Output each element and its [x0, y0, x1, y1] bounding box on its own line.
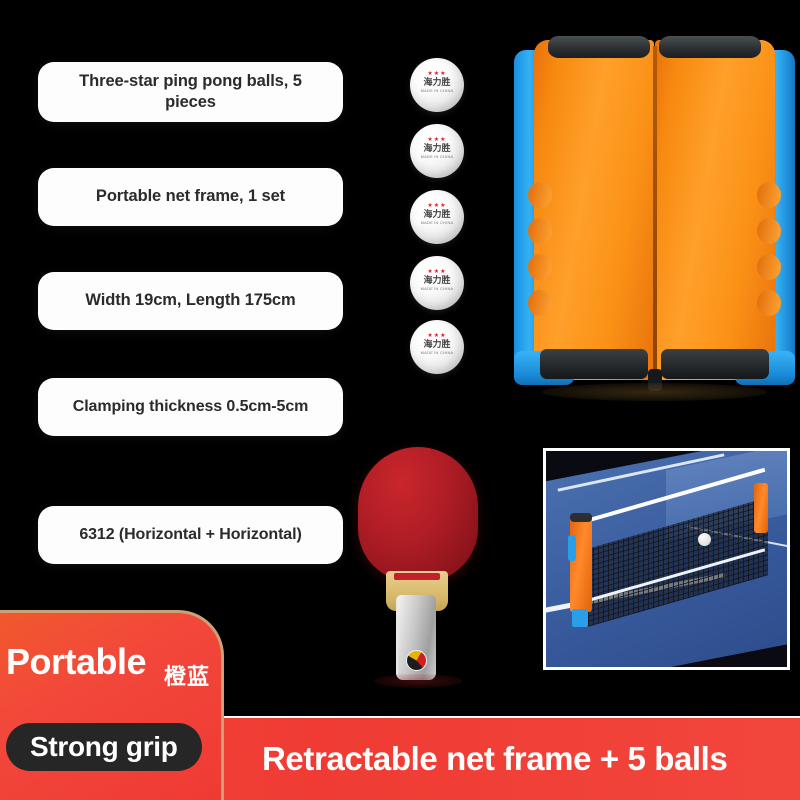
paddle-shadow [374, 674, 462, 688]
grip-ridge [528, 218, 552, 244]
paddle-red-stripe [394, 573, 440, 580]
net-frame-top-cap [659, 36, 761, 58]
left-promo-panel: Portable 橙蓝 Strong grip [0, 610, 224, 800]
spec-card-label: 6312 (Horizontal + Horizontal) [79, 525, 301, 545]
ball-brand-text: 海力胜 [410, 276, 464, 285]
ping-pong-ball: ★★★ 海力胜 MADE IN CHINA [410, 256, 464, 310]
net-post-far [754, 483, 768, 533]
ball-brand-text: 海力胜 [410, 340, 464, 349]
bottom-promo-text: Retractable net frame + 5 balls [262, 740, 727, 778]
net-frame-dark-base [540, 349, 648, 379]
grip-ridge [757, 218, 781, 244]
net-frame-shadow [542, 383, 767, 401]
ball-brand-text: 海力胜 [410, 78, 464, 87]
spec-card-label: Portable net frame, 1 set [96, 186, 285, 207]
ball-made-in-text: MADE IN CHINA [410, 221, 464, 225]
net-post-clamp-foot [572, 609, 588, 627]
grip-ridge [757, 290, 781, 316]
net-frame-orange-body [534, 40, 654, 380]
ball-brand-text: 海力胜 [410, 210, 464, 219]
grip-ridge [528, 254, 552, 280]
paddle-logo-icon [406, 650, 427, 671]
spec-card-label: Three-star ping pong balls, 5 pieces [52, 71, 329, 113]
ball-made-in-text: MADE IN CHINA [410, 351, 464, 355]
grip-ridge [757, 182, 781, 208]
promo-headline: Portable [6, 641, 146, 683]
ping-pong-ball: ★★★ 海力胜 MADE IN CHINA [410, 320, 464, 374]
spec-card-balls: Three-star ping pong balls, 5 pieces [38, 62, 343, 122]
net-frame-orange-body [655, 40, 775, 380]
paddle-blade [358, 447, 478, 582]
ball-made-in-text: MADE IN CHINA [410, 155, 464, 159]
ping-pong-ball: ★★★ 海力胜 MADE IN CHINA [410, 124, 464, 178]
ping-pong-ball: ★★★ 海力胜 MADE IN CHINA [410, 58, 464, 112]
ball-made-in-text: MADE IN CHINA [410, 287, 464, 291]
net-post-cap [570, 513, 592, 522]
net-frame-right-half [655, 32, 797, 397]
ball-brand-text: 海力胜 [410, 144, 464, 153]
spec-card-clamp: Clamping thickness 0.5cm-5cm [38, 378, 343, 436]
spec-card-size: Width 19cm, Length 175cm [38, 272, 343, 330]
net-frame-center-seam [653, 46, 657, 382]
table-tennis-paddles-pair [358, 445, 558, 680]
net-post-near [570, 517, 592, 612]
strong-grip-badge: Strong grip [6, 723, 202, 771]
usage-photo-inset [543, 448, 790, 670]
net-frame-left-half [512, 32, 654, 397]
ball-made-in-text: MADE IN CHINA [410, 89, 464, 93]
retractable-net-frame-product [512, 32, 797, 397]
net-post-blue-clip [568, 535, 576, 561]
paddle-front [358, 445, 478, 680]
table-ball [698, 533, 711, 546]
grip-ridge [528, 290, 552, 316]
ping-pong-ball: ★★★ 海力胜 MADE IN CHINA [410, 190, 464, 244]
spec-card-net-frame: Portable net frame, 1 set [38, 168, 343, 226]
promo-chinese-subtitle: 橙蓝 [164, 659, 210, 691]
grip-ridge [757, 254, 781, 280]
net-frame-top-cap [548, 36, 650, 58]
grip-ridge [528, 182, 552, 208]
spec-card-label: Clamping thickness 0.5cm-5cm [73, 397, 309, 417]
product-image-canvas: Three-star ping pong balls, 5 pieces Por… [0, 0, 800, 800]
net-frame-dark-base [661, 349, 769, 379]
spec-card-model: 6312 (Horizontal + Horizontal) [38, 506, 343, 564]
spec-card-label: Width 19cm, Length 175cm [85, 290, 295, 311]
